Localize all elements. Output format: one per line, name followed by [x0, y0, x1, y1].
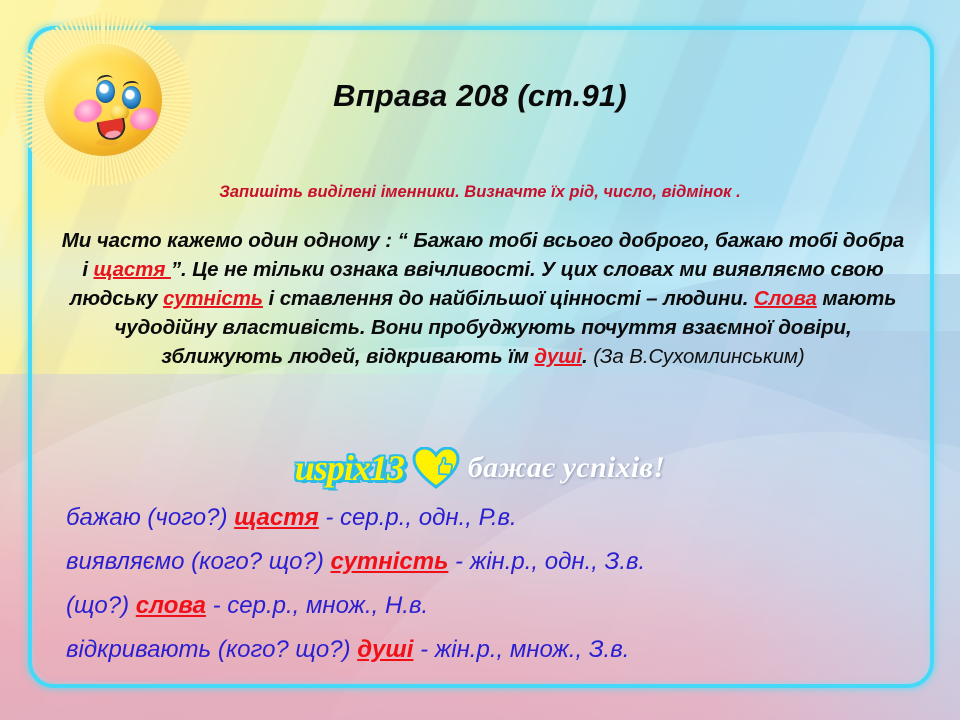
body-text-segment: . [582, 345, 593, 368]
watermark-wish: бажає успіхів! [468, 451, 665, 485]
answer-grammar: - жін.р., множ., З.в. [413, 636, 629, 663]
answer-grammar: - жін.р., одн., З.в. [448, 548, 645, 575]
answer-keyword: душі [357, 636, 413, 663]
answer-grammar: - сер.р., множ., Н.в. [206, 592, 428, 619]
highlighted-noun: Слова [754, 287, 817, 310]
answer-question: (що?) [66, 592, 136, 619]
highlighted-noun: сутність [163, 287, 263, 310]
citation: (За В.Сухомлинським) [593, 345, 804, 368]
answer-keyword: щастя [234, 504, 319, 531]
sun-chin [96, 139, 118, 146]
page-title: Вправа 208 (ст.91) [0, 78, 960, 114]
body-text-segment: і ставлення до найбільшої цінності – люд… [263, 287, 754, 310]
highlighted-noun: щастя [94, 258, 171, 281]
watermark-brand: uspix13 [295, 447, 404, 489]
answer-keyword: сутність [331, 548, 449, 575]
answer-question: відкривають (кого? що?) [66, 636, 357, 663]
answer-line: бажаю (чого?) щастя - сер.р., одн., Р.в. [66, 496, 920, 540]
body-paragraph: Ми часто кажемо один одному : “ Бажаю то… [58, 226, 908, 371]
slide-canvas: Вправа 208 (ст.91) Запишіть виділені іме… [0, 0, 960, 720]
highlighted-noun: душі [534, 345, 582, 368]
answer-question: виявляємо (кого? що?) [66, 548, 331, 575]
instruction-text: Запишіть виділені іменники. Визначте їх … [0, 183, 960, 202]
answer-question: бажаю (чого?) [66, 504, 234, 531]
answer-line: відкривають (кого? що?) душі - жін.р., м… [66, 628, 920, 672]
answers-list: бажаю (чого?) щастя - сер.р., одн., Р.в.… [66, 496, 920, 672]
answer-keyword: слова [136, 592, 206, 619]
answer-line: (що?) слова - сер.р., множ., Н.в. [66, 584, 920, 628]
answer-grammar: - сер.р., одн., Р.в. [319, 504, 517, 531]
answer-line: виявляємо (кого? що?) сутність - жін.р.,… [66, 540, 920, 584]
heart-thumbs-up-icon [412, 447, 460, 489]
watermark: uspix13 бажає успіхів! [0, 444, 960, 492]
